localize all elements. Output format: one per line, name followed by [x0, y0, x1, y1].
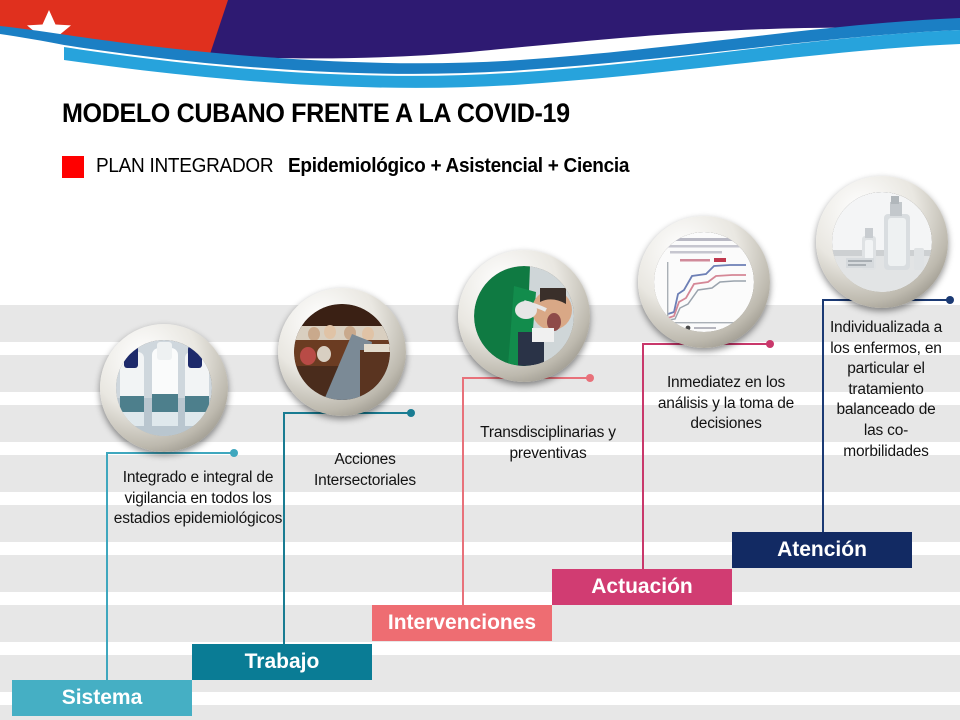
subtitle-bold: Epidemiológico + Asistencial + Ciencia: [288, 155, 629, 178]
page-title: MODELO CUBANO FRENTE A LA COVID-19: [62, 98, 570, 129]
header-banner: [0, 0, 960, 88]
connector-dot-intervenciones: [586, 374, 594, 382]
bubble-photo-frame: [654, 232, 754, 332]
bubble-vials: [816, 176, 948, 308]
callout-trabajo: Acciones Intersectoriales: [300, 450, 430, 491]
callout-intervenciones: Transdisciplinarias y preventivas: [468, 423, 628, 464]
step-bar-intervenciones[interactable]: Intervenciones: [372, 605, 552, 641]
subtitle-row: PLAN INTEGRADOR Epidemiológico + Asisten…: [62, 155, 647, 178]
bubble-photo-frame: [474, 266, 574, 366]
photo-nasal-swab: [474, 266, 574, 366]
bubble-photo-frame: [832, 192, 932, 292]
bubble-photo-frame: [116, 340, 212, 436]
photo-meeting-room: [294, 304, 390, 400]
photo-vials: [832, 192, 932, 292]
step-bar-atencion[interactable]: Atención: [732, 532, 912, 568]
step-bar-actuacion[interactable]: Actuación: [552, 569, 732, 605]
step-bar-sistema[interactable]: Sistema: [12, 680, 192, 716]
connector-dot-atencion: [946, 296, 954, 304]
connector-dot-sistema: [230, 449, 238, 457]
photo-line-chart: [654, 232, 754, 332]
subtitle-plain: PLAN INTEGRADOR: [96, 155, 273, 178]
photo-medicine-bottles: [116, 340, 212, 436]
callout-atencion: Individualizada a los enfermos, en parti…: [826, 318, 946, 462]
red-square-bullet-icon: [62, 156, 84, 178]
bubble-medicine-bottles: [100, 324, 228, 452]
connector-dot-trabajo: [407, 409, 415, 417]
bubble-meeting-room: [278, 288, 406, 416]
connector-dot-actuacion: [766, 340, 774, 348]
step-bar-trabajo[interactable]: Trabajo: [192, 644, 372, 680]
bubble-nasal-swab: [458, 250, 590, 382]
slide-canvas: MODELO CUBANO FRENTE A LA COVID-19 PLAN …: [0, 0, 960, 720]
callout-actuacion: Inmediatez en los análisis y la toma de …: [650, 373, 802, 435]
bubble-photo-frame: [294, 304, 390, 400]
callout-sistema: Integrado e integral de vigilancia en to…: [112, 468, 284, 530]
bubble-line-chart: [638, 216, 770, 348]
